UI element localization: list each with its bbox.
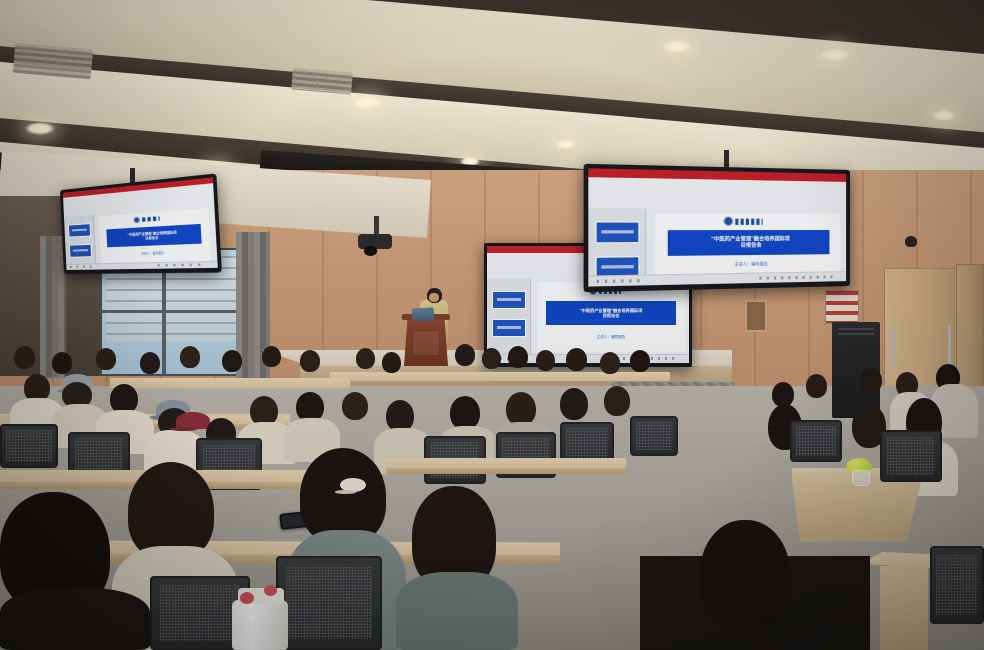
ceiling-downlight <box>556 140 576 149</box>
slide-title-line2: 目报告会 <box>145 236 158 241</box>
audience-head <box>96 348 116 370</box>
audience-head <box>860 368 882 393</box>
door[interactable] <box>956 264 984 388</box>
projector-mount-pole <box>374 216 379 236</box>
projector-lens-icon <box>364 246 377 256</box>
ceiling-downlight <box>352 96 382 109</box>
audience-head <box>14 346 35 369</box>
audience-head <box>482 348 501 369</box>
slide-thumbnail[interactable] <box>595 221 639 243</box>
audience-cap-red <box>176 412 210 429</box>
slide-subtitle: 主讲人：辅导报告 <box>101 249 211 257</box>
audience-head <box>382 352 401 373</box>
audience-head <box>566 348 587 371</box>
slide-title-band: “中医药产业管理”融合培养国际项 目报告会 <box>106 224 201 247</box>
lecture-hall-photo: “中医药产业管理”融合培养国际项 目报告会 主讲人：辅导报告 <box>0 0 984 650</box>
slide-title-line2: 目报告会 <box>741 242 762 249</box>
audience-head <box>222 350 242 372</box>
desk-side <box>792 478 922 542</box>
logo-wordmark <box>142 216 160 222</box>
slide-thumbnail[interactable] <box>68 223 91 238</box>
desk-edge <box>386 468 626 474</box>
chair[interactable] <box>790 420 842 462</box>
plush-cup <box>852 470 870 486</box>
bottle-ring-icon <box>240 592 254 604</box>
university-logo <box>133 215 159 223</box>
slide-title-band: “中医药产业管理”融合培养国际项 目报告会 <box>668 230 830 256</box>
podium-laptop <box>412 307 435 322</box>
audience-head <box>604 386 630 416</box>
ceiling-downlight <box>25 122 55 135</box>
wall-plaque <box>745 300 767 332</box>
ppt-title-bar <box>588 168 846 182</box>
security-camera-icon <box>905 236 917 247</box>
bottle-ring-icon <box>264 585 277 596</box>
wall-artwork <box>825 290 859 324</box>
slide-subtitle: 主讲人：辅导报告 <box>655 260 840 269</box>
slide-subtitle: 主讲人：辅导报告 <box>537 335 685 340</box>
audience-torso <box>396 572 518 650</box>
window-mullion <box>102 310 238 313</box>
door-handle[interactable] <box>891 325 894 369</box>
slide-thumbnail[interactable] <box>69 244 92 258</box>
audience-head <box>508 346 528 368</box>
ppt-slide-thumbnail-panel[interactable] <box>64 215 96 264</box>
university-logo <box>724 216 763 225</box>
audience-head <box>342 392 368 420</box>
water-bottle[interactable] <box>232 600 288 650</box>
chair[interactable] <box>630 416 678 456</box>
audience-head <box>450 396 480 430</box>
ppt-slide-thumbnail-panel[interactable] <box>487 279 531 354</box>
logo-mark-icon <box>724 216 734 225</box>
ceiling-downlight <box>662 40 692 53</box>
audience-head <box>356 348 375 369</box>
audience-head <box>700 520 790 630</box>
audience-head <box>806 374 827 398</box>
slide-canvas[interactable]: “中医药产业管理”融合培养国际项 目报告会 主讲人：辅导报告 <box>99 208 211 264</box>
desk <box>110 378 350 388</box>
audience-head <box>630 350 650 372</box>
audience-head <box>180 346 200 368</box>
left-wall-tv[interactable]: “中医药产业管理”融合培养国际项 目报告会 主讲人：辅导报告 <box>60 173 222 274</box>
audience-head <box>455 344 475 366</box>
audience-head <box>536 350 555 371</box>
presentation-window[interactable]: “中医药产业管理”融合培养国际项 目报告会 主讲人：辅导报告 <box>588 168 846 286</box>
audience-head <box>262 346 281 367</box>
audience-head <box>560 388 588 420</box>
audience-head <box>52 352 72 374</box>
slide-canvas[interactable]: “中医药产业管理”融合培养国际项 目报告会 主讲人：辅导报告 <box>537 282 685 352</box>
audience-torso <box>0 588 150 650</box>
door-handle[interactable] <box>948 325 951 369</box>
chair[interactable] <box>276 556 382 650</box>
audience-head <box>506 392 536 426</box>
logo-wordmark <box>735 218 762 224</box>
slide-canvas[interactable]: “中医药产业管理”融合培养国际项 目报告会 主讲人：辅导报告 <box>655 213 840 276</box>
hair-tie <box>340 478 366 492</box>
slide-thumbnail[interactable] <box>492 319 526 337</box>
slide-thumbnail[interactable] <box>492 291 526 309</box>
audience-head <box>600 352 620 374</box>
audience-head <box>300 350 320 372</box>
ppt-slide-thumbnail-panel[interactable] <box>588 208 646 275</box>
chair[interactable] <box>930 546 984 624</box>
right-wall-tv[interactable]: “中医药产业管理”融合培养国际项 目报告会 主讲人：辅导报告 <box>584 164 850 292</box>
slide-title-band: “中医药产业管理”融合培养国际项 目报告会 <box>546 301 676 325</box>
presentation-window[interactable]: “中医药产业管理”融合培养国际项 目报告会 主讲人：辅导报告 <box>63 177 218 270</box>
podium-front-panel <box>412 330 440 356</box>
slide-title-line2: 目报告会 <box>603 313 620 318</box>
chair[interactable] <box>880 430 942 482</box>
desk-side <box>880 566 928 650</box>
chair[interactable] <box>0 424 58 468</box>
ppt-ribbon-tools[interactable] <box>63 205 64 217</box>
ceiling-downlight <box>932 110 956 121</box>
logo-mark-icon <box>133 217 140 224</box>
desk <box>330 372 670 381</box>
ceiling-downlight <box>820 48 850 61</box>
audience-head <box>140 352 160 374</box>
speaker-face <box>429 293 439 302</box>
